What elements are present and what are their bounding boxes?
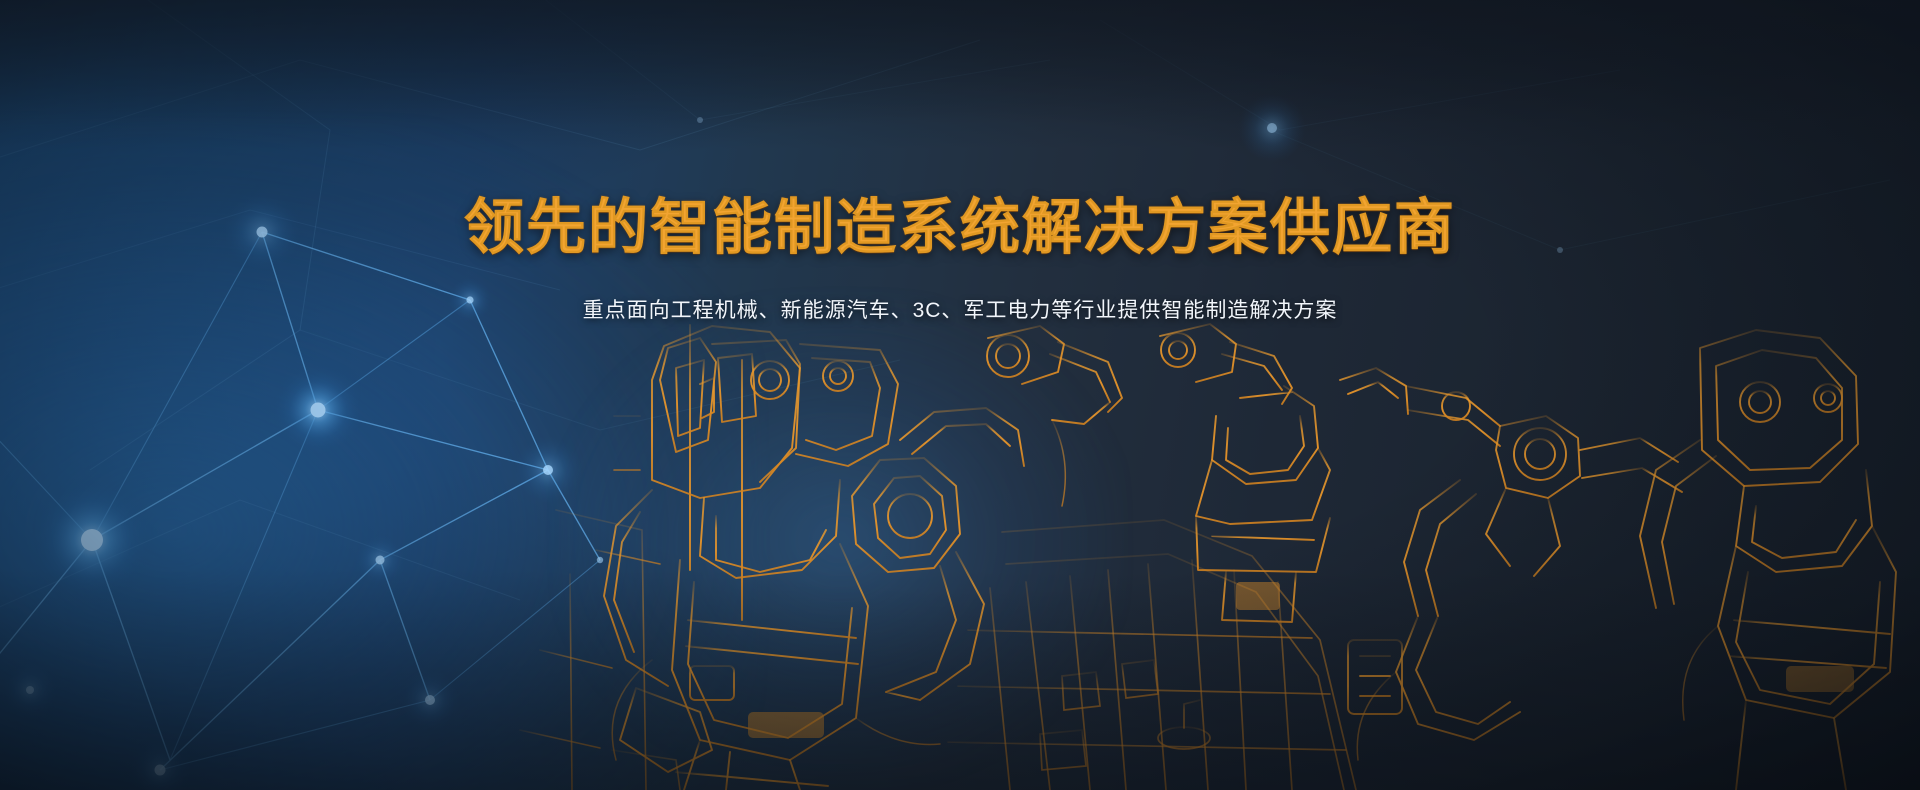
hero-copy-block: 领先的智能制造系统解决方案供应商 重点面向工程机械、新能源汽车、3C、军工电力等… [0, 196, 1920, 326]
hero-banner: 领先的智能制造系统解决方案供应商 重点面向工程机械、新能源汽车、3C、军工电力等… [0, 0, 1920, 790]
background-top-fade [0, 0, 1920, 150]
hero-subheadline: 重点面向工程机械、新能源汽车、3C、军工电力等行业提供智能制造解决方案 [0, 295, 1920, 327]
hero-headline: 领先的智能制造系统解决方案供应商 [0, 196, 1920, 261]
